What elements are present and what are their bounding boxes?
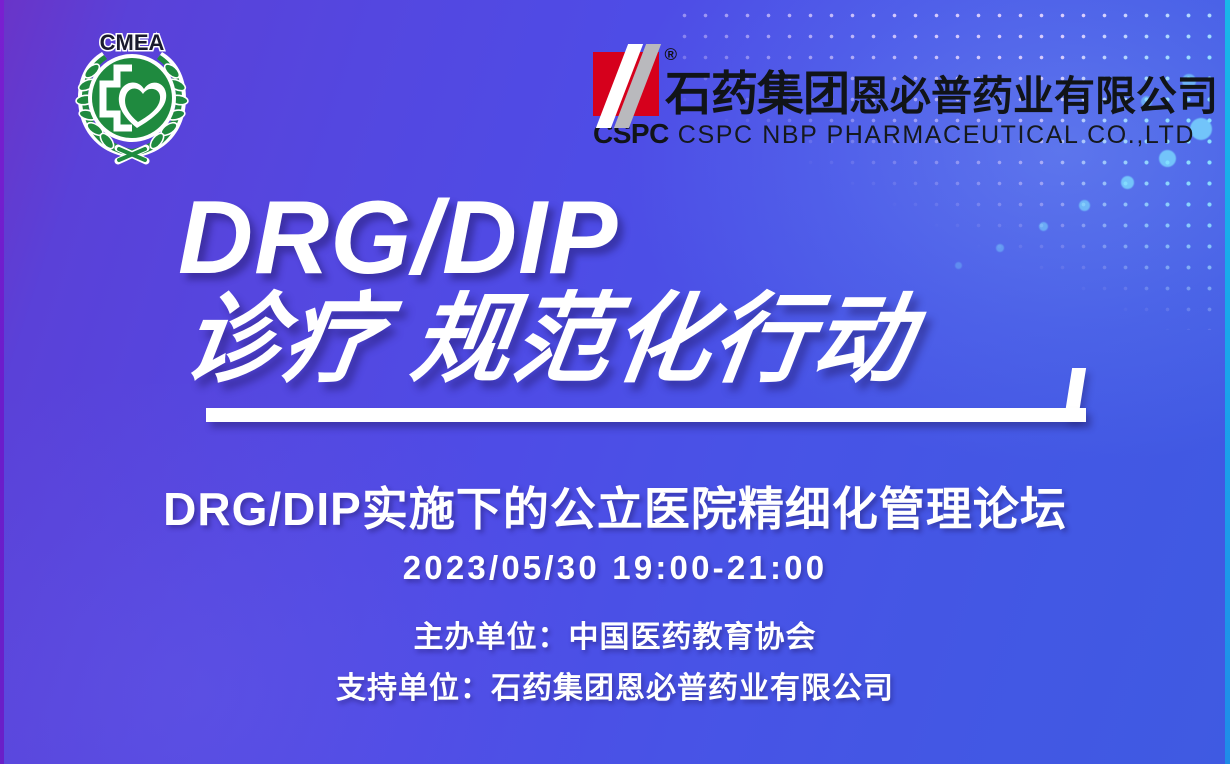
cmea-logo: CMEA CMEA: [62, 24, 202, 166]
particle-blob: [955, 262, 962, 269]
particle-field: [670, 0, 1230, 330]
cspc-brand-chinese-bold: 石药集团: [665, 67, 849, 120]
cspc-english-name: CSPC NBP PHARMACEUTICAL CO.,LTD: [678, 121, 1195, 150]
event-subtitle: DRG/DIP实施下的公立医院精细化管理论坛: [0, 473, 1230, 539]
event-supporter: 支持单位：石药集团恩必普药业有限公司: [0, 663, 1230, 707]
cspc-brand-chinese-rest: 恩必普药业有限公司: [849, 73, 1218, 119]
hero-title-latin: DRG/DIP: [178, 186, 618, 290]
cspc-logo-top-row: ® 石药集团恩必普药业有限公司: [593, 52, 1218, 116]
event-datetime: 2023/05/30 19:00-21:00: [0, 549, 1230, 587]
registered-trademark-icon: ®: [664, 46, 677, 63]
svg-text:CMEA: CMEA: [100, 30, 165, 55]
cspc-mark-icon: ®: [593, 52, 659, 116]
particle-blob: [996, 244, 1004, 252]
particle-blob: [1039, 222, 1048, 231]
event-organizer: 主办单位：中国医药教育协会: [0, 612, 1230, 656]
particle-dot-grid: [670, 0, 1230, 330]
particle-blob: [1079, 200, 1090, 211]
particle-dot-grid-cyan: [670, 0, 1230, 330]
hero-title-chinese: 诊疗 规范化行动: [177, 287, 921, 393]
particle-blob: [1159, 150, 1176, 167]
cspc-logo-bottom-row: CSPC CSPC NBP PHARMACEUTICAL CO.,LTD: [593, 118, 1195, 150]
hero-underline-bar: [206, 408, 1086, 422]
event-poster: CMEA CMEA ® 石药集团恩必普药业有限公司 CSPC CSPC NBP …: [0, 0, 1230, 764]
cspc-brand-chinese: 石药集团恩必普药业有限公司: [665, 71, 1218, 116]
particle-blob: [1121, 176, 1134, 189]
cspc-logo: ® 石药集团恩必普药业有限公司 CSPC CSPC NBP PHARMACEUT…: [593, 52, 1218, 150]
